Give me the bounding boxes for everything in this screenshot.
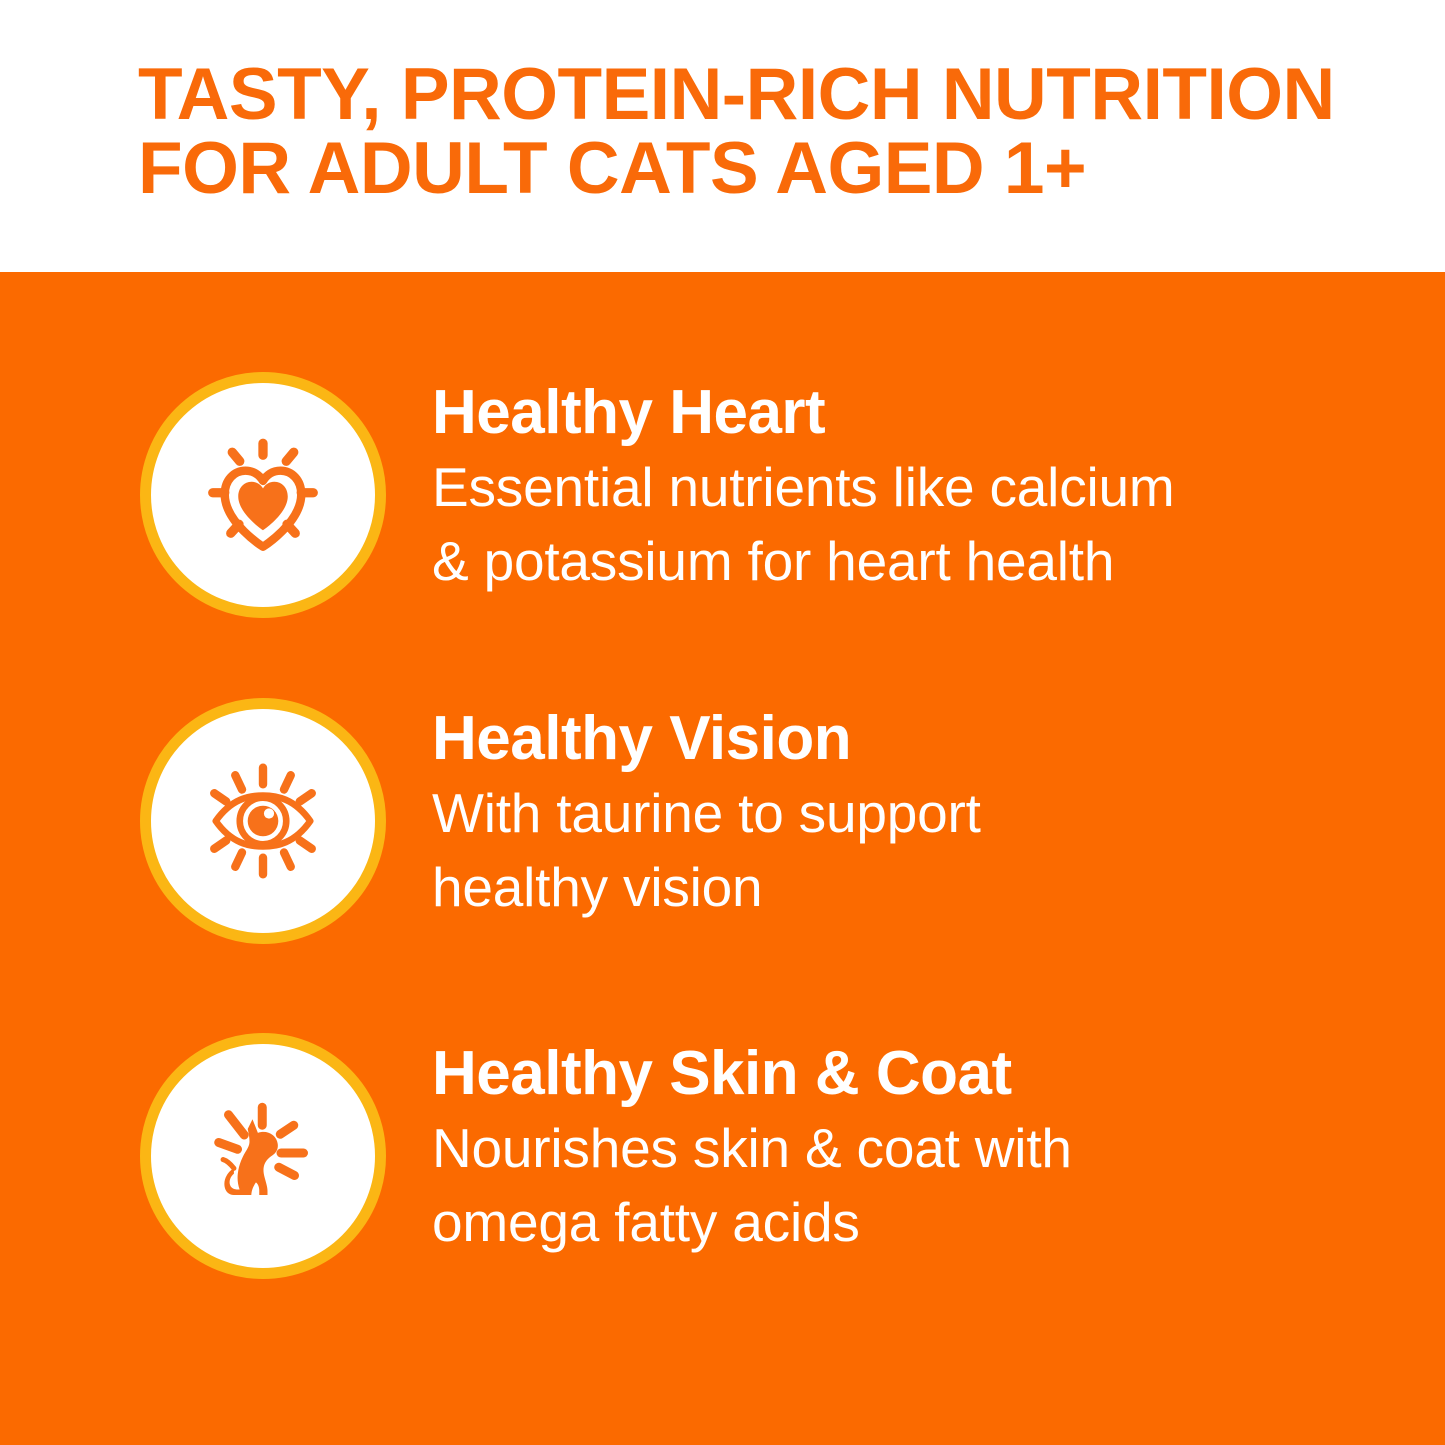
benefit-item-healthy-vision: Healthy Vision With taurine to support h…	[0, 698, 1445, 944]
benefit-description: Nourishes skin & coat with omega fatty a…	[432, 1111, 1322, 1259]
benefit-icon-badge	[140, 1033, 386, 1279]
promo-panel: TASTY, PROTEIN-RICH NUTRITION FOR ADULT …	[0, 0, 1445, 1445]
radiant-eye-icon	[188, 746, 338, 896]
header-band: TASTY, PROTEIN-RICH NUTRITION FOR ADULT …	[0, 0, 1445, 272]
radiant-cat-icon	[188, 1081, 338, 1231]
benefit-item-healthy-skin-and-coat: Healthy Skin & Coat Nourishes skin & coa…	[0, 1033, 1445, 1279]
benefit-description: With taurine to support healthy vision	[432, 776, 1322, 924]
benefits-panel: Healthy Heart Essential nutrients like c…	[0, 272, 1445, 1445]
benefit-icon-badge	[140, 372, 386, 618]
page-title: TASTY, PROTEIN-RICH NUTRITION FOR ADULT …	[138, 58, 1368, 206]
benefit-text-block: Healthy Skin & Coat Nourishes skin & coa…	[432, 1033, 1322, 1259]
radiant-heart-icon	[188, 420, 338, 570]
benefit-item-healthy-heart: Healthy Heart Essential nutrients like c…	[0, 372, 1445, 618]
benefit-text-block: Healthy Heart Essential nutrients like c…	[432, 372, 1322, 598]
benefit-text-block: Healthy Vision With taurine to support h…	[432, 698, 1322, 924]
benefit-icon-badge	[140, 698, 386, 944]
benefit-title: Healthy Vision	[432, 706, 1322, 772]
benefit-title: Healthy Skin & Coat	[432, 1041, 1322, 1107]
benefit-description: Essential nutrients like calcium & potas…	[432, 450, 1322, 598]
benefit-title: Healthy Heart	[432, 380, 1322, 446]
benefits-list: Healthy Heart Essential nutrients like c…	[0, 272, 1445, 1445]
